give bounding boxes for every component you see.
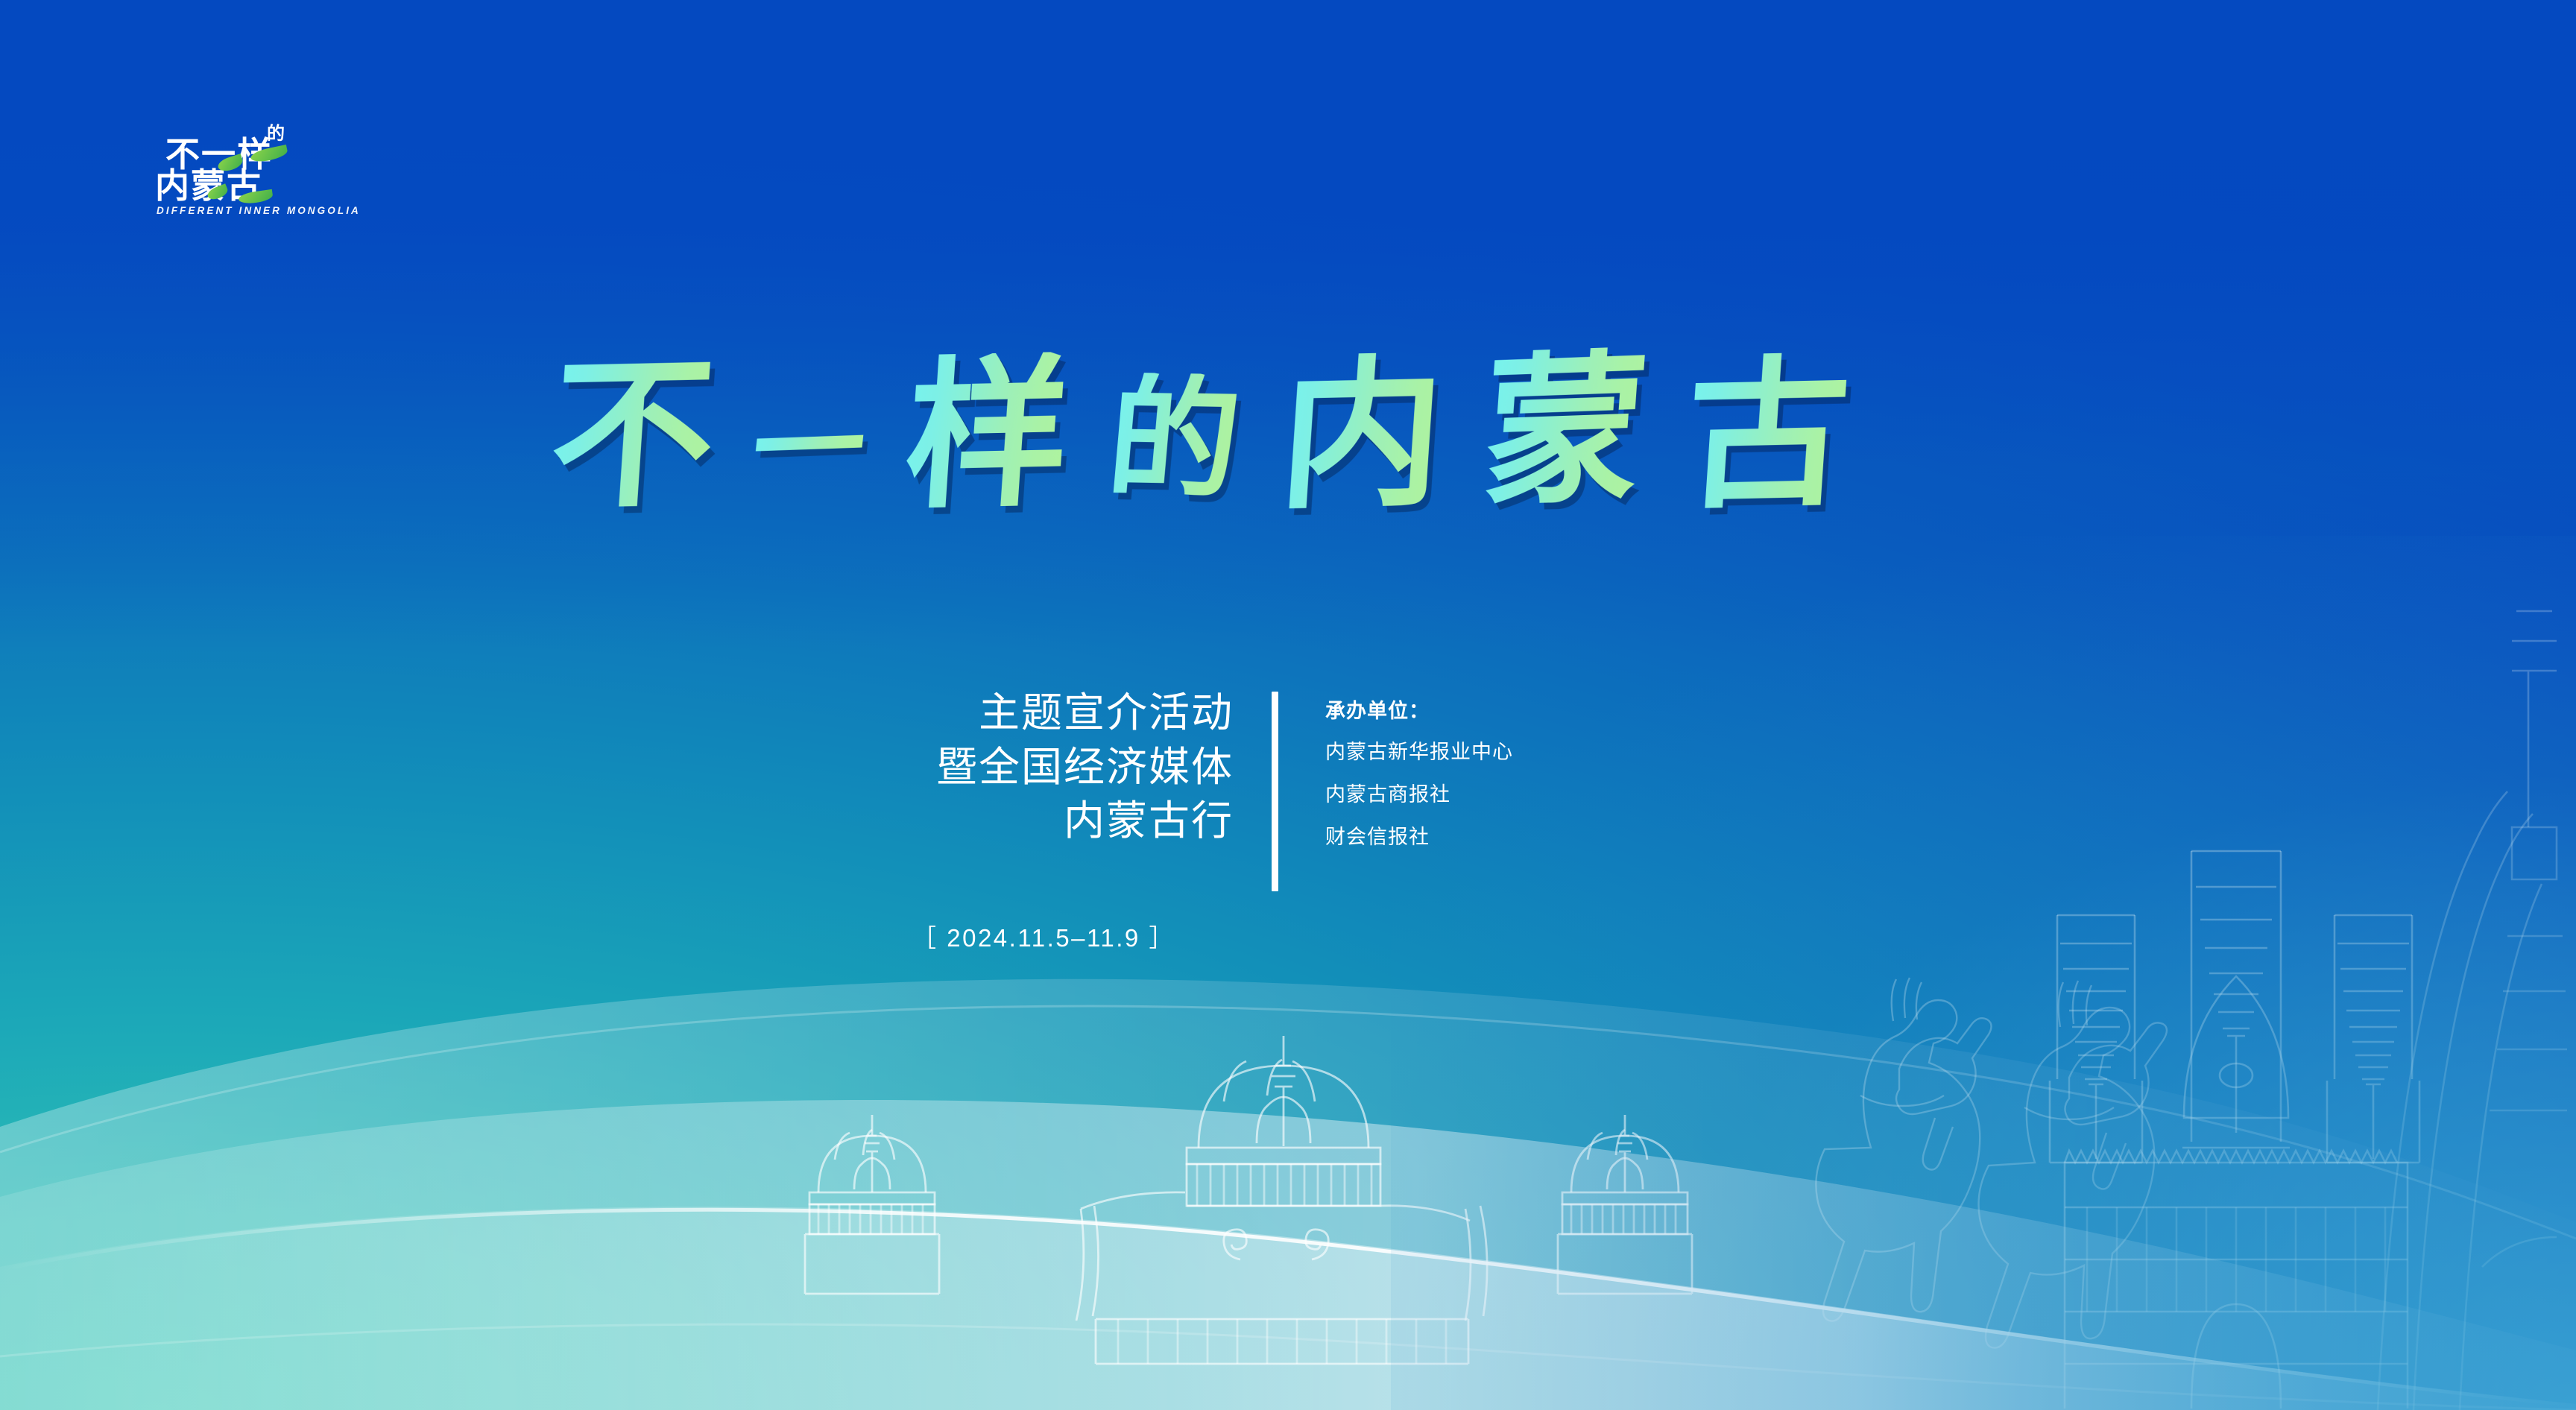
hero-char-1: 一	[747, 390, 871, 505]
wave-mid	[0, 1100, 2576, 1410]
brand-logo[interactable]: 不一样 内蒙古 的 DIFFERENT INNER MONGOLIA	[155, 130, 386, 227]
decorative-illustration-layer	[0, 0, 2576, 1410]
ornamental-gate-outline	[2378, 611, 2567, 1410]
event-date: ［ 2024.11.5–11.9 ］	[805, 918, 1282, 954]
hero-char-0: 不	[546, 352, 720, 518]
brand-logo-english: DIFFERENT INNER MONGOLIA	[157, 205, 361, 216]
hero-char-6: 古	[1681, 352, 1854, 518]
yurt-dome-outlines	[805, 1036, 1692, 1364]
horse-rider-outlines	[1816, 978, 2167, 1348]
organizers-label: 承办单位：	[1325, 695, 1513, 724]
wave-back	[0, 979, 2576, 1410]
hero-char-5: 蒙	[1477, 346, 1652, 513]
hero-char-3: 的	[1103, 372, 1246, 505]
organizers-block: 承办单位： 内蒙古新华报业中心 内蒙古商报社 财会信报社	[1325, 695, 1513, 863]
poster-canvas: 不一样 内蒙古 的 DIFFERENT INNER MONGOLIA 不 一 样…	[0, 0, 2576, 1410]
subtitle-line-1: 暨全国经济媒体	[805, 740, 1234, 794]
hero-char-2: 样	[901, 352, 1075, 518]
wave-highlight-line	[0, 1210, 2576, 1406]
hero-title: 不 一 样 的 内 蒙 古	[552, 312, 1849, 557]
hero-char-4: 内	[1275, 352, 1449, 518]
subtitle-line-0: 主题宣介活动	[805, 686, 1234, 740]
brand-logo-de: 的	[267, 118, 286, 145]
subtitle-line-2: 内蒙古行	[805, 794, 1234, 848]
right-side-gradient-overlay	[1391, 536, 2576, 1410]
organizer-item: 财会信报社	[1325, 821, 1513, 850]
wave-thin-line-2	[0, 1324, 2576, 1410]
event-subtitle: 主题宣介活动 暨全国经济媒体 内蒙古行	[805, 686, 1234, 848]
organizer-item: 内蒙古商报社	[1325, 778, 1513, 807]
organizer-item: 内蒙古新华报业中心	[1325, 736, 1513, 765]
vertical-divider	[1272, 692, 1278, 891]
wave-front	[0, 1207, 2576, 1410]
wave-thin-line	[0, 1006, 2576, 1239]
brand-logo-chinese: 不一样 内蒙古 的	[155, 130, 386, 202]
pagoda-tower-outlines	[2050, 851, 2419, 1409]
